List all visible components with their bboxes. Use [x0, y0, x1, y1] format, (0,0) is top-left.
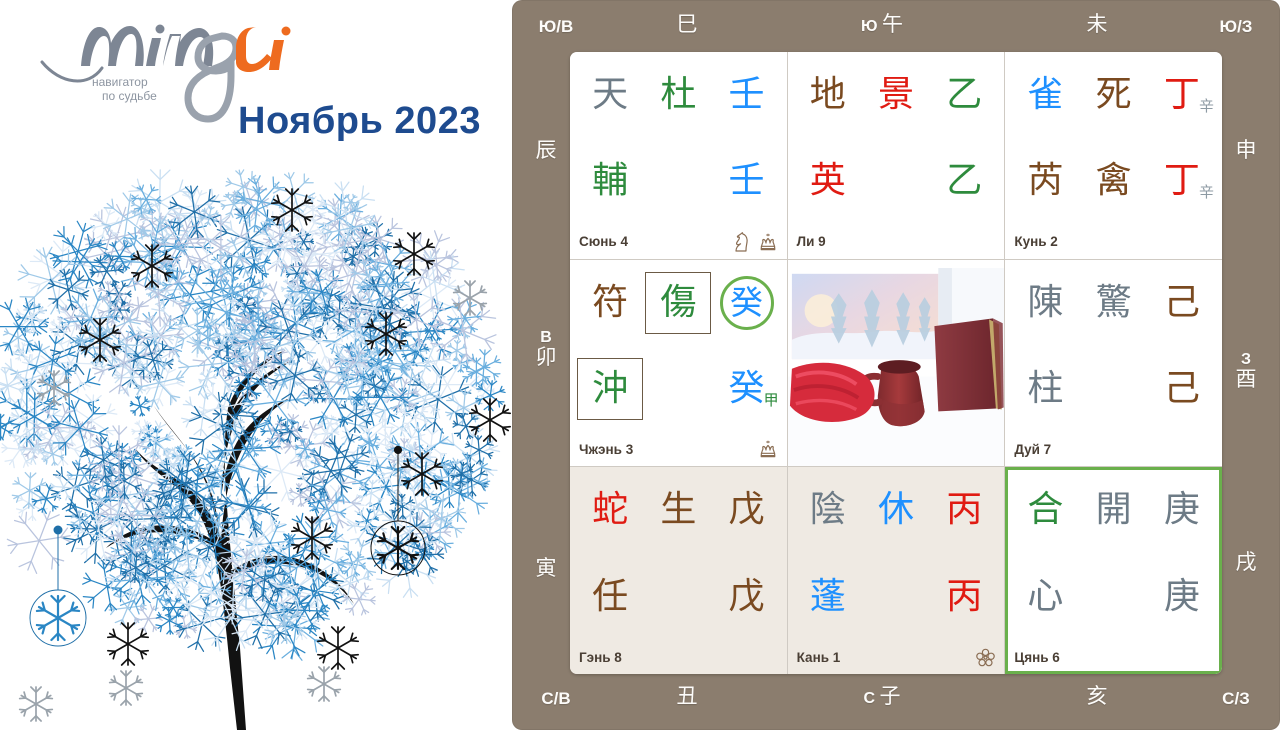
palace-glyph: 開 — [1096, 492, 1132, 528]
glyph-slot-1: 沖 — [576, 358, 644, 420]
palace-cell-kun-2[interactable]: 雀死丁辛芮禽丁辛Кунь 2 — [1005, 52, 1222, 259]
glyph-row-1: 天杜壬 — [570, 52, 787, 138]
glyph-row-1: 陰休丙 — [788, 467, 1005, 553]
glyph-slot-2: 死 — [1080, 77, 1148, 113]
palace-glyph: 休 — [878, 492, 914, 528]
glyph-slot-1: 地 — [794, 77, 862, 113]
edge-cjk-wu: 午 — [882, 13, 903, 36]
glyph-slot-2: 禽 — [1080, 163, 1148, 199]
palace-glyph: 乙 — [946, 163, 982, 199]
palace-footer: Чжэнь 3 — [570, 432, 787, 466]
glyph-row-2: 柱己 — [1005, 346, 1222, 432]
glyph-slot-3: 庚 — [1148, 579, 1216, 615]
glyph-slot-1: 心 — [1011, 579, 1079, 615]
glyph-slot-2: 景 — [862, 77, 930, 113]
palace-glyph-rows: 陳驚己柱己 — [1005, 260, 1222, 433]
glyph-slot-1: 輔 — [576, 163, 644, 199]
palace-name-label: Кунь 2 — [1014, 234, 1057, 249]
glyph-circle-marker: 癸 — [720, 276, 774, 330]
palace-glyph: 壬 — [729, 77, 765, 113]
palace-glyph: 戊 — [729, 579, 765, 615]
qimen-chart-frame: Ю/В 巳 Ю 午 未 Ю/З С/В 丑 С 子 亥 С/З 辰 В卯 寅 申… — [512, 0, 1280, 730]
glyph-slot-1: 英 — [794, 163, 862, 199]
chess-knight-icon — [733, 232, 752, 252]
edge-label-nw: Ю/З — [1206, 18, 1266, 36]
palace-glyph: 芮 — [1027, 163, 1063, 199]
edge-label-yin: 寅 — [524, 558, 568, 580]
chess-crown-icon — [758, 439, 778, 459]
glyph-slot-2: 生 — [644, 492, 712, 528]
edge-cjk-mao: 卯 — [536, 346, 557, 369]
palace-glyph: 傷 — [660, 285, 696, 321]
chess-crown-icon — [758, 232, 778, 252]
glyph-slot-3: 癸甲 — [712, 371, 780, 407]
palace-name-label: Дуй 7 — [1014, 442, 1051, 457]
glyph-slot-3: 壬 — [712, 77, 780, 113]
glyph-slot-1: 雀 — [1011, 77, 1079, 113]
palace-glyph-rows: 雀死丁辛芮禽丁辛 — [1005, 52, 1222, 225]
glyph-slot-2: 開 — [1080, 492, 1148, 528]
glyph-slot-3: 庚 — [1148, 492, 1216, 528]
glyph-slot-1: 天 — [576, 77, 644, 113]
glyph-box-marker: 沖 — [577, 358, 643, 420]
palace-glyph: 禽 — [1096, 163, 1132, 199]
palace-glyph: 丙 — [946, 579, 982, 615]
glyph-slot-1: 蓬 — [794, 579, 862, 615]
palace-glyph-rows: 蛇生戊任戊 — [570, 467, 787, 640]
edge-label-si: 巳 — [632, 14, 742, 36]
glyph-slot-3: 戊 — [712, 492, 780, 528]
glyph-slot-1: 任 — [576, 579, 644, 615]
palace-glyph: 己 — [1164, 285, 1200, 321]
edge-label-se: С/З — [1206, 690, 1266, 708]
qimen-palace-grid: 天杜壬輔壬Сюнь 4地景乙英乙Ли 9雀死丁辛芮禽丁辛Кунь 2符傷癸沖癸甲… — [570, 52, 1222, 674]
glyph-row-2: 輔壬 — [570, 138, 787, 224]
glyph-row-1: 符傷癸 — [570, 260, 787, 346]
glyph-slot-3: 戊 — [712, 579, 780, 615]
palace-cell-kan-1[interactable]: 陰休丙蓬丙Кань 1 — [788, 467, 1005, 674]
edge-label-xu: 戌 — [1224, 552, 1268, 574]
palace-glyph: 丁 — [1164, 163, 1200, 199]
palace-glyph: 沖 — [592, 371, 628, 407]
glyph-slot-3: 丙 — [930, 579, 998, 615]
palace-glyph-rows: 天杜壬輔壬 — [570, 52, 787, 225]
palace-cell-li-9[interactable]: 地景乙英乙Ли 9 — [788, 52, 1005, 259]
palace-glyph-rows: 地景乙英乙 — [788, 52, 1005, 225]
palace-footer: Ли 9 — [788, 225, 1005, 259]
glyph-slot-1: 合 — [1011, 492, 1079, 528]
glyph-row-2: 心庚 — [1005, 554, 1222, 640]
glyph-slot-3: 丙 — [930, 492, 998, 528]
palace-glyph: 景 — [878, 77, 914, 113]
glyph-slot-2: 休 — [862, 492, 930, 528]
palace-name-label: Гэнь 8 — [579, 650, 622, 665]
palace-glyph: 天 — [592, 77, 628, 113]
edge-label-ne: Ю/В — [526, 18, 586, 36]
glyph-slot-1: 柱 — [1011, 371, 1079, 407]
palace-cell-qian-6[interactable]: 合開庚心庚Цянь 6 — [1005, 467, 1222, 674]
glyph-slot-3: 己 — [1148, 285, 1216, 321]
flower-icon — [976, 648, 995, 667]
edge-cjk-zi: 子 — [880, 685, 901, 708]
glyph-row-1: 蛇生戊 — [570, 467, 787, 553]
edge-label-hai: 亥 — [1052, 686, 1142, 708]
palace-glyph-superscript: 辛 — [1199, 99, 1214, 114]
glyph-row-2: 任戊 — [570, 554, 787, 640]
palace-glyph: 庚 — [1164, 579, 1200, 615]
glyph-slot-1: 芮 — [1011, 163, 1079, 199]
palace-footer: Гэнь 8 — [570, 640, 787, 674]
edge-label-shen: 申 — [1224, 140, 1268, 162]
glyph-slot-1: 陰 — [794, 492, 862, 528]
palace-glyph: 蛇 — [592, 492, 628, 528]
palace-glyph: 心 — [1027, 579, 1063, 615]
winter-snowflake-tree-image — [0, 148, 512, 730]
palace-glyph: 杜 — [660, 77, 696, 113]
palace-icons — [976, 648, 995, 667]
glyph-slot-2: 傷 — [644, 272, 712, 334]
edge-cjk-you: 酉 — [1236, 368, 1257, 391]
palace-glyph: 戊 — [729, 492, 765, 528]
palace-glyph: 輔 — [592, 163, 628, 199]
palace-glyph-rows: 合開庚心庚 — [1005, 467, 1222, 640]
glyph-row-2: 蓬丙 — [788, 554, 1005, 640]
palace-glyph: 生 — [660, 492, 696, 528]
palace-glyph: 驚 — [1096, 285, 1132, 321]
glyph-slot-2: 杜 — [644, 77, 712, 113]
palace-footer: Дуй 7 — [1005, 432, 1222, 466]
glyph-row-2: 英乙 — [788, 138, 1005, 224]
palace-glyph: 癸 — [730, 286, 763, 319]
palace-icons — [733, 232, 778, 252]
palace-glyph: 雀 — [1027, 77, 1063, 113]
palace-name-label: Сюнь 4 — [579, 234, 628, 249]
glyph-slot-1: 陳 — [1011, 285, 1079, 321]
glyph-slot-2: 驚 — [1080, 285, 1148, 321]
glyph-slot-3: 癸 — [712, 276, 780, 330]
glyph-slot-3: 乙 — [930, 77, 998, 113]
palace-glyph: 任 — [592, 579, 628, 615]
glyph-row-2: 芮禽丁辛 — [1005, 138, 1222, 224]
edge-dir-north: С — [863, 690, 875, 707]
palace-glyph-superscript: 甲 — [764, 393, 779, 408]
palace-footer: Цянь 6 — [1005, 640, 1222, 674]
palace-glyph-rows: 陰休丙蓬丙 — [788, 467, 1005, 640]
left-panel: навигатор по судьбе Ноябрь 2023 — [0, 0, 512, 730]
page-title: Ноябрь 2023 — [238, 100, 481, 143]
palace-glyph: 符 — [592, 285, 628, 321]
palace-glyph: 陳 — [1027, 285, 1063, 321]
edge-label-west-you: З酉 — [1224, 352, 1268, 391]
palace-glyph: 壬 — [729, 163, 765, 199]
palace-glyph: 丁 — [1164, 77, 1200, 113]
glyph-slot-3: 己 — [1148, 371, 1216, 407]
palace-glyph: 蓬 — [810, 579, 846, 615]
palace-cell-dui-7[interactable]: 陳驚己柱己Дуй 7 — [1005, 260, 1222, 467]
glyph-row-1: 陳驚己 — [1005, 260, 1222, 346]
edge-dir-south: Ю — [861, 18, 878, 35]
palace-cell-xun-4[interactable]: 天杜壬輔壬Сюнь 4 — [570, 52, 787, 259]
winter-photo-image — [788, 268, 1005, 467]
palace-glyph-rows: 符傷癸沖癸甲 — [570, 260, 787, 433]
edge-label-south-wu: Ю 午 — [812, 14, 952, 36]
glyph-slot-3: 丁辛 — [1148, 163, 1216, 199]
palace-glyph: 丙 — [946, 492, 982, 528]
palace-glyph: 乙 — [946, 77, 982, 113]
glyph-row-1: 地景乙 — [788, 52, 1005, 138]
edge-label-east-mao: В卯 — [524, 330, 568, 369]
palace-cell-zhen-3[interactable]: 符傷癸沖癸甲Чжэнь 3 — [570, 260, 787, 467]
glyph-row-1: 合開庚 — [1005, 467, 1222, 553]
palace-glyph: 合 — [1027, 492, 1063, 528]
edge-label-chou: 丑 — [632, 686, 742, 708]
palace-icons — [758, 439, 778, 459]
palace-glyph: 癸 — [729, 371, 765, 407]
glyph-slot-1: 蛇 — [576, 492, 644, 528]
palace-name-label: Кань 1 — [797, 650, 841, 665]
edge-dir-west: З — [1241, 351, 1251, 368]
palace-cell-center-photo[interactable] — [788, 260, 1005, 467]
glyph-slot-3: 乙 — [930, 163, 998, 199]
palace-name-label: Чжэнь 3 — [579, 442, 633, 457]
palace-glyph-superscript: 辛 — [1199, 185, 1214, 200]
palace-glyph: 己 — [1164, 371, 1200, 407]
brand-tagline-line1: навигатор — [92, 75, 148, 89]
glyph-box-marker: 傷 — [645, 272, 711, 334]
edge-dir-east: В — [540, 329, 552, 346]
palace-glyph: 地 — [810, 77, 846, 113]
palace-glyph: 庚 — [1164, 492, 1200, 528]
palace-glyph: 陰 — [810, 492, 846, 528]
palace-name-label: Цянь 6 — [1014, 650, 1059, 665]
glyph-row-1: 雀死丁辛 — [1005, 52, 1222, 138]
glyph-row-2: 沖癸甲 — [570, 346, 787, 432]
palace-glyph: 柱 — [1027, 371, 1063, 407]
brand-tagline-line2: по судьбе — [102, 89, 157, 103]
palace-name-label: Ли 9 — [797, 234, 826, 249]
edge-label-wei: 未 — [1052, 14, 1142, 36]
edge-label-north-zi: С 子 — [812, 686, 952, 708]
palace-footer: Сюнь 4 — [570, 225, 787, 259]
glyph-slot-1: 符 — [576, 285, 644, 321]
palace-footer: Кань 1 — [788, 640, 1005, 674]
palace-footer: Кунь 2 — [1005, 225, 1222, 259]
palace-cell-gen-8[interactable]: 蛇生戊任戊Гэнь 8 — [570, 467, 787, 674]
edge-label-chen: 辰 — [524, 140, 568, 162]
glyph-slot-3: 壬 — [712, 163, 780, 199]
palace-glyph: 英 — [810, 163, 846, 199]
palace-glyph: 死 — [1096, 77, 1132, 113]
glyph-slot-3: 丁辛 — [1148, 77, 1216, 113]
edge-label-sw: С/В — [526, 690, 586, 708]
